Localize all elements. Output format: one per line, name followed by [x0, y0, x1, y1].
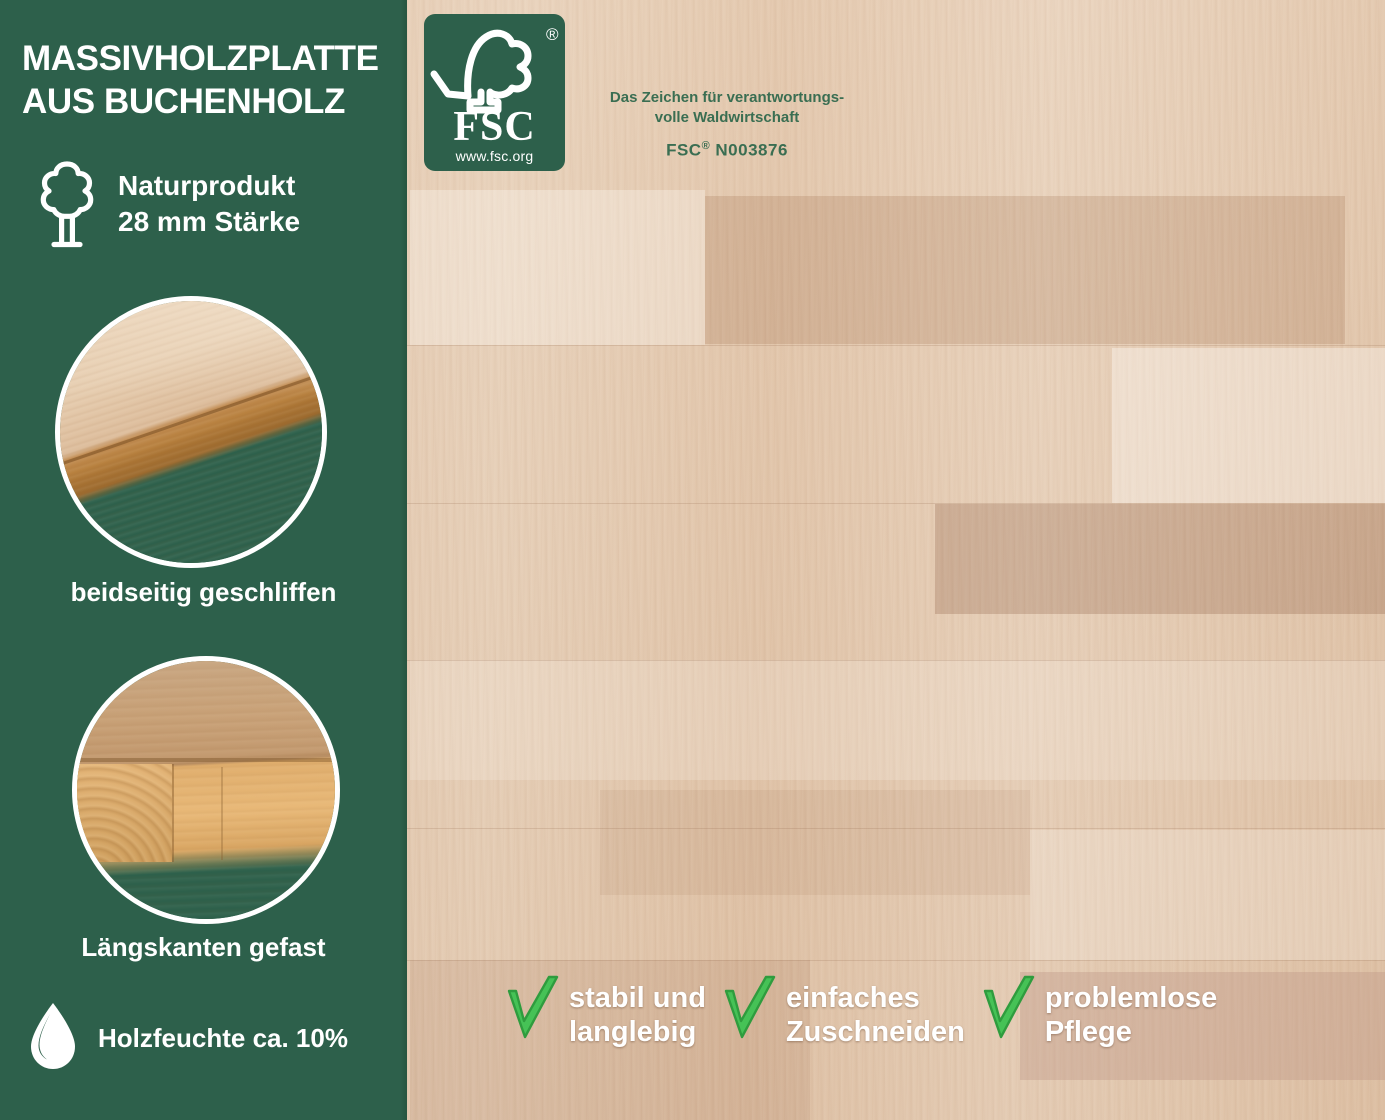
fsc-license-code: FSC® N003876	[582, 140, 872, 161]
page-title: MASSIVHOLZPLATTE AUS BUCHENHOLZ	[22, 38, 392, 123]
feature-image-chamfered	[72, 656, 340, 924]
feature-badges: stabil und langlebig einfaches Zuschneid…	[505, 975, 1217, 1055]
wood-stave-block	[410, 660, 1385, 780]
wood-stave-block	[1112, 348, 1385, 503]
nature-product-label: Naturprodukt 28 mm Stärke	[118, 168, 300, 240]
wood-edge-photo	[60, 301, 322, 563]
registered-mark: ®	[702, 140, 711, 152]
water-drop-icon	[22, 998, 84, 1078]
moisture-row: Holzfeuchte ca. 10%	[22, 998, 348, 1078]
wood-stave-block	[705, 196, 1345, 344]
wood-stave-block	[1030, 830, 1385, 960]
fsc-url: www.fsc.org	[424, 148, 565, 164]
feature-image-sanded	[55, 296, 327, 568]
wood-block-photo	[77, 661, 335, 919]
nature-product-row: Naturprodukt 28 mm Stärke	[34, 158, 394, 250]
fsc-logo: ® FSC www.fsc.org	[424, 14, 565, 171]
product-infographic: MASSIVHOLZPLATTE AUS BUCHENHOLZ Naturpro…	[0, 0, 1385, 1120]
badge-label: stabil und langlebig	[569, 981, 706, 1049]
wood-stave-block	[935, 504, 1385, 614]
tree-icon	[34, 158, 100, 250]
fsc-wordmark: FSC	[424, 106, 565, 148]
wood-stave-block	[600, 790, 1030, 895]
fsc-code-prefix: FSC	[666, 141, 702, 160]
fsc-tree-checkmark-icon: ®	[424, 18, 565, 118]
badge-easy-cutting: einfaches Zuschneiden	[722, 975, 965, 1055]
green-check-icon	[505, 975, 563, 1055]
fsc-caption: Das Zeichen für verantwortungs- volle Wa…	[582, 88, 872, 129]
moisture-label: Holzfeuchte ca. 10%	[98, 1023, 348, 1054]
feature-caption-chamfered: Längskanten gefast	[0, 932, 407, 963]
green-check-icon	[722, 975, 780, 1055]
green-check-icon	[981, 975, 1039, 1055]
badge-label: einfaches Zuschneiden	[786, 981, 965, 1049]
wood-stave-block	[410, 190, 705, 345]
feature-caption-sanded: beidseitig geschliffen	[0, 577, 407, 608]
badge-easy-care: problemlose Pflege	[981, 975, 1217, 1055]
badge-label: problemlose Pflege	[1045, 981, 1217, 1049]
badge-stable: stabil und langlebig	[505, 975, 706, 1055]
svg-text:®: ®	[546, 25, 559, 44]
fsc-code-number: N003876	[715, 141, 788, 160]
